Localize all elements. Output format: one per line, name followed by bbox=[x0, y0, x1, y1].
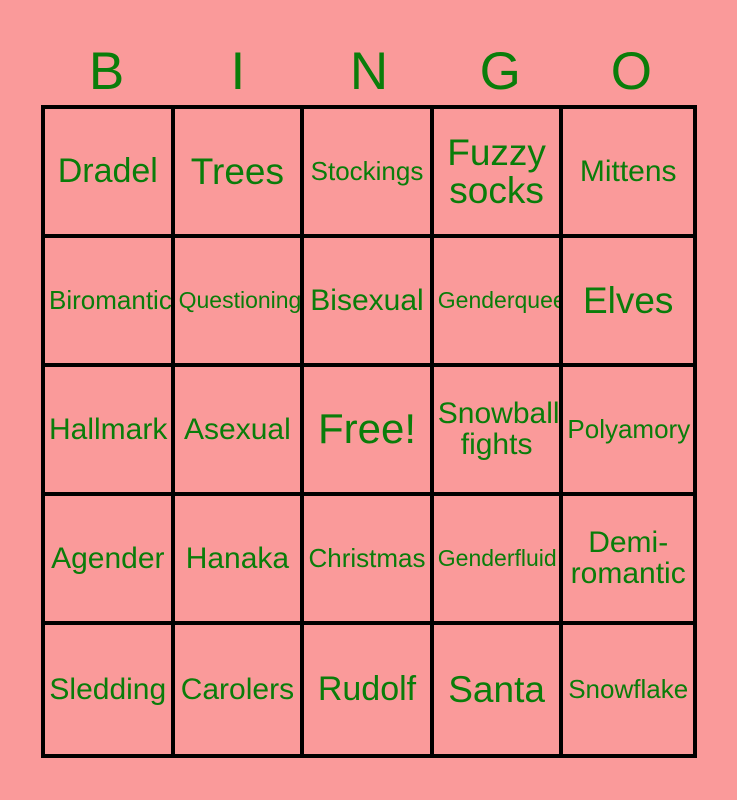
bingo-cell-label: Trees bbox=[179, 152, 297, 191]
bingo-header-letter-n: N bbox=[303, 22, 434, 98]
bingo-cell-label: Questioning bbox=[179, 288, 297, 312]
bingo-header-letter-o: O bbox=[566, 22, 697, 98]
bingo-card: BINGO DradelTreesStockingsFuzzy socksMit… bbox=[0, 0, 737, 800]
bingo-cell[interactable]: Santa bbox=[434, 625, 564, 754]
bingo-cell-label: Christmas bbox=[308, 545, 426, 573]
bingo-cell-label: Genderqueer bbox=[438, 288, 556, 312]
bingo-cell-label: Rudolf bbox=[308, 671, 426, 707]
bingo-grid: DradelTreesStockingsFuzzy socksMittensBi… bbox=[41, 105, 697, 758]
bingo-cell-label: Asexual bbox=[179, 414, 297, 446]
bingo-header-letter-g: G bbox=[435, 22, 566, 98]
bingo-cell[interactable]: Fuzzy socks bbox=[434, 109, 564, 238]
bingo-cell-label: Bisexual bbox=[308, 285, 426, 317]
bingo-cell[interactable]: Snowflake bbox=[563, 625, 693, 754]
bingo-cell[interactable]: Demi-romantic bbox=[563, 496, 693, 625]
bingo-cell-label: Dradel bbox=[49, 153, 167, 189]
bingo-header: BINGO bbox=[41, 22, 697, 98]
bingo-cell-free-space[interactable]: Free! bbox=[304, 367, 434, 496]
bingo-cell-label: Santa bbox=[438, 670, 556, 709]
bingo-cell[interactable]: Rudolf bbox=[304, 625, 434, 754]
bingo-header-letter-i: I bbox=[172, 22, 303, 98]
bingo-cell-label: Hallmark bbox=[49, 414, 167, 446]
bingo-cell[interactable]: Trees bbox=[175, 109, 305, 238]
bingo-cell-label: Sledding bbox=[49, 674, 167, 706]
bingo-header-letter-b: B bbox=[41, 22, 172, 98]
bingo-cell[interactable]: Biromantic bbox=[45, 238, 175, 367]
bingo-cell-label: Snowball fights bbox=[438, 399, 556, 460]
bingo-cell[interactable]: Agender bbox=[45, 496, 175, 625]
bingo-cell-label: Agender bbox=[49, 543, 167, 575]
bingo-cell[interactable]: Bisexual bbox=[304, 238, 434, 367]
bingo-cell[interactable]: Hallmark bbox=[45, 367, 175, 496]
bingo-cell[interactable]: Polyamory bbox=[563, 367, 693, 496]
bingo-cell-label: Demi-romantic bbox=[567, 528, 689, 589]
bingo-cell[interactable]: Dradel bbox=[45, 109, 175, 238]
bingo-cell[interactable]: Questioning bbox=[175, 238, 305, 367]
bingo-cell[interactable]: Mittens bbox=[563, 109, 693, 238]
bingo-cell[interactable]: Snowball fights bbox=[434, 367, 564, 496]
bingo-cell-label: Elves bbox=[567, 281, 689, 320]
bingo-cell-label: Free! bbox=[308, 407, 426, 452]
bingo-cell[interactable]: Genderfluid bbox=[434, 496, 564, 625]
bingo-cell-label: Biromantic bbox=[49, 287, 167, 315]
bingo-cell[interactable]: Christmas bbox=[304, 496, 434, 625]
bingo-cell[interactable]: Carolers bbox=[175, 625, 305, 754]
bingo-cell[interactable]: Hanaka bbox=[175, 496, 305, 625]
bingo-cell-label: Stockings bbox=[308, 158, 426, 186]
bingo-cell[interactable]: Stockings bbox=[304, 109, 434, 238]
bingo-cell[interactable]: Sledding bbox=[45, 625, 175, 754]
bingo-cell[interactable]: Asexual bbox=[175, 367, 305, 496]
bingo-cell-label: Fuzzy socks bbox=[438, 134, 556, 209]
bingo-cell-label: Carolers bbox=[179, 674, 297, 706]
bingo-cell-label: Mittens bbox=[567, 156, 689, 188]
bingo-cell-label: Polyamory bbox=[567, 416, 689, 444]
bingo-cell[interactable]: Elves bbox=[563, 238, 693, 367]
bingo-cell-label: Hanaka bbox=[179, 543, 297, 575]
bingo-cell-label: Genderfluid bbox=[438, 546, 556, 570]
bingo-cell[interactable]: Genderqueer bbox=[434, 238, 564, 367]
bingo-cell-label: Snowflake bbox=[567, 676, 689, 704]
